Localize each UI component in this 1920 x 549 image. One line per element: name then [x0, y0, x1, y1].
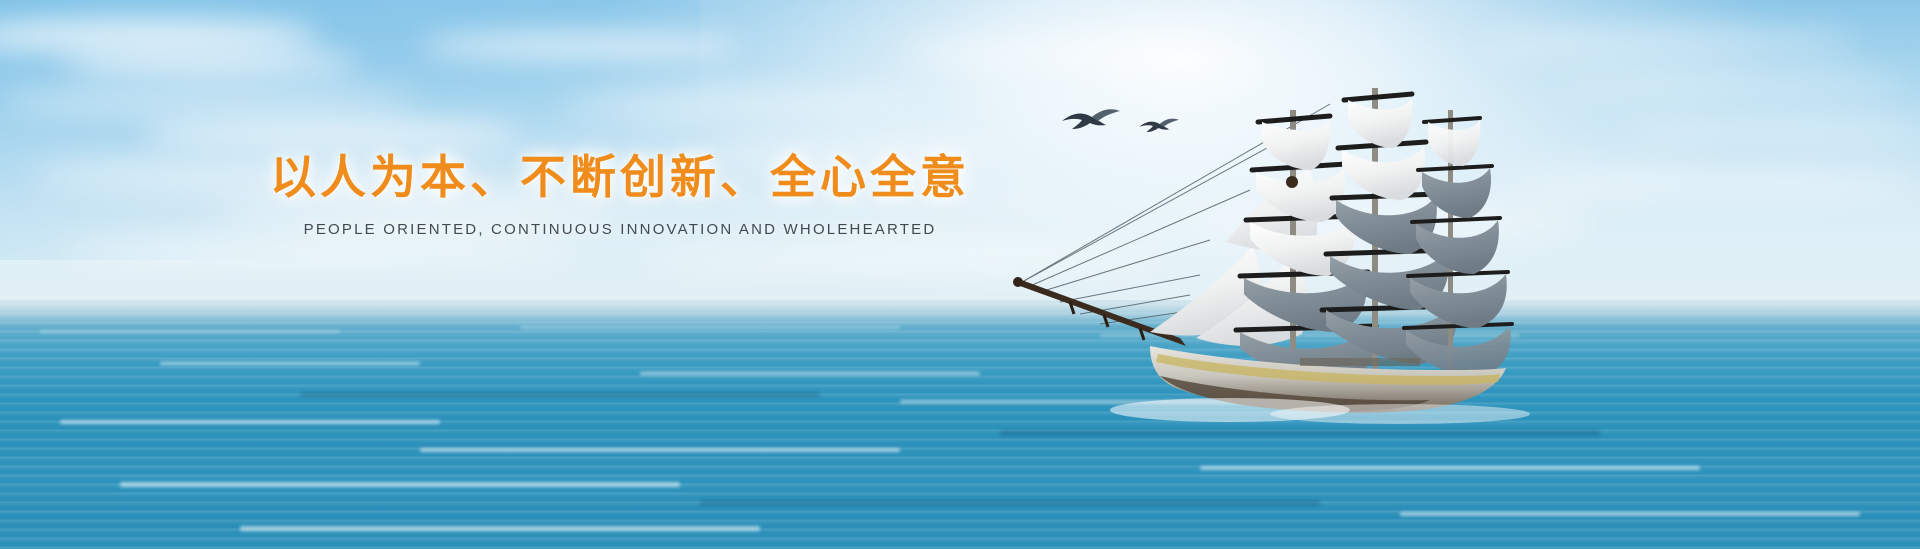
cloud	[420, 34, 740, 58]
wave-streak	[120, 482, 680, 487]
wave-streak	[700, 500, 1320, 506]
wave-streak	[420, 448, 900, 452]
wave-streak	[240, 526, 760, 531]
cloud	[1480, 30, 1860, 56]
cloud	[1620, 118, 1920, 140]
wave-streak	[640, 372, 980, 375]
wave-streak	[1400, 512, 1860, 516]
bowsprit	[1013, 277, 1186, 346]
page-title: 以人为本、不断创新、全心全意	[0, 150, 1240, 205]
wave-streak	[60, 420, 440, 424]
hero-banner: 以人为本、不断创新、全心全意 PEOPLE ORIENTED, CONTINUO…	[0, 0, 1920, 549]
cloud	[900, 40, 1240, 66]
wave-streak	[160, 362, 420, 365]
cloud	[560, 92, 920, 118]
banner-text-block: 以人为本、不断创新、全心全意 PEOPLE ORIENTED, CONTINUO…	[0, 150, 1240, 238]
wave-streak	[520, 326, 900, 329]
cloud	[1560, 72, 1900, 96]
crew-figure	[1286, 176, 1298, 188]
cloud	[0, 86, 420, 116]
wave-streak	[40, 330, 340, 333]
cloud	[60, 236, 580, 262]
tall-sailing-ship	[1000, 70, 1520, 430]
wave-streak	[1000, 430, 1600, 436]
cloud	[140, 120, 520, 148]
wave-streak	[1200, 466, 1700, 470]
cloud	[1500, 170, 1920, 196]
page-subtitle: PEOPLE ORIENTED, CONTINUOUS INNOVATION A…	[0, 221, 1240, 238]
wave-streak	[300, 392, 820, 397]
cloud	[60, 50, 360, 76]
